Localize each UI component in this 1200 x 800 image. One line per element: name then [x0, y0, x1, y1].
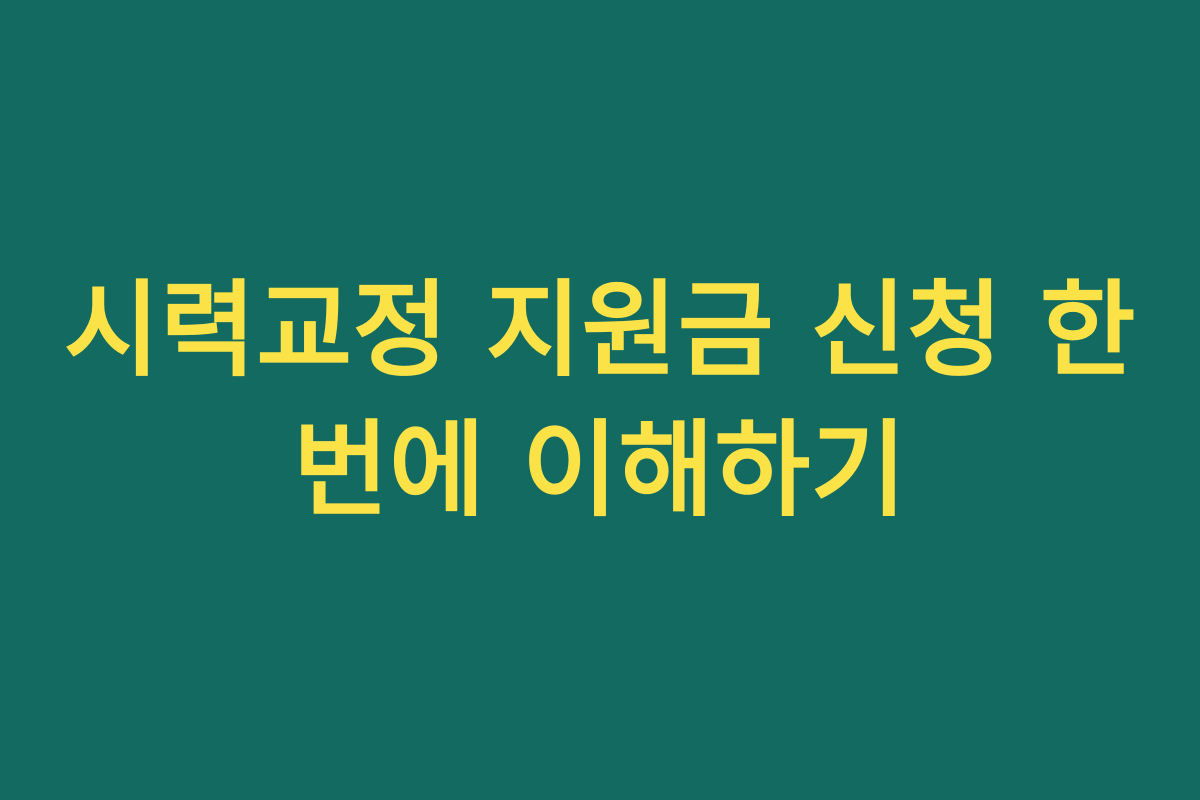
headline-line-2: 번에 이해하기	[50, 400, 1150, 540]
banner-canvas: 시력교정 지원금 신청 한 번에 이해하기	[0, 0, 1200, 800]
page-title: 시력교정 지원금 신청 한 번에 이해하기	[50, 260, 1150, 540]
headline-line-1: 시력교정 지원금 신청 한	[50, 260, 1150, 400]
headline-block: 시력교정 지원금 신청 한 번에 이해하기	[50, 260, 1150, 540]
